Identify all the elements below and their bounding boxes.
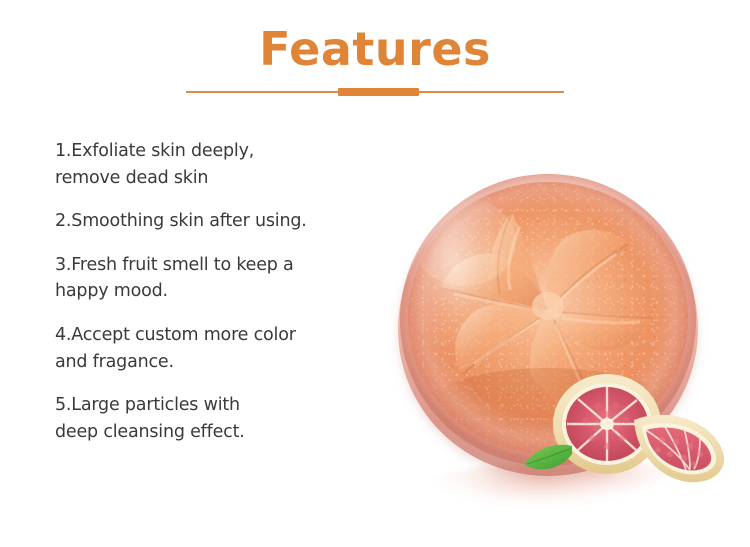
- features-page: Features 1.Exfoliate skin deeply, remove…: [0, 0, 750, 547]
- page-title: Features: [0, 26, 750, 72]
- list-item: 3.Fresh fruit smell to keep a happy mood…: [55, 252, 405, 305]
- divider-center-bar: [338, 88, 419, 96]
- list-item: 2.Smoothing skin after using.: [55, 208, 405, 235]
- features-list: 1.Exfoliate skin deeply, remove dead ski…: [55, 138, 405, 445]
- page-header: Features: [0, 0, 750, 110]
- list-item: 4.Accept custom more color and fragance.: [55, 322, 405, 375]
- leaf-icon: [522, 442, 574, 474]
- list-item: 1.Exfoliate skin deeply, remove dead ski…: [55, 138, 405, 191]
- product-image: [382, 168, 732, 547]
- title-divider: [186, 88, 564, 96]
- list-item: 5.Large particles with deep cleansing ef…: [55, 392, 405, 445]
- grapefruit-wedge: [630, 412, 728, 486]
- jar-highlight: [408, 188, 528, 398]
